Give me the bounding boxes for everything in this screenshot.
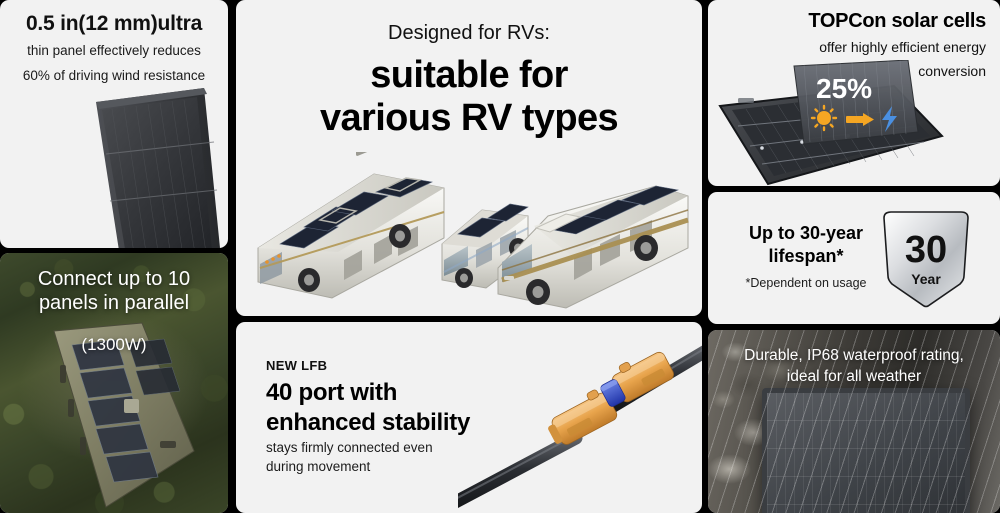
parallel-headline: Connect up to 10 panels in parallel — [0, 267, 228, 316]
panel-rv-types: Designed for RVs: suitable for various R… — [236, 0, 702, 316]
efficiency-callout: 25% — [788, 60, 938, 152]
panel-topcon: TOPCon solar cells offer highly efficien… — [708, 0, 1000, 186]
lfb-description-line1: stays firmly connected even — [266, 438, 433, 457]
panel-lfb-connector: NEW LFB 40 port with enhanced stability … — [236, 322, 702, 513]
rv-types-headline: suitable for various RV types — [236, 45, 702, 139]
rv-class-a — [258, 152, 444, 298]
panel-ip68: Durable, IP68 waterproof rating, ideal f… — [708, 330, 1000, 513]
lifespan-footnote: *Dependent on usage — [726, 276, 886, 290]
parallel-wattage: (1300W) — [0, 335, 228, 355]
rv-types-headline-line1: suitable for — [236, 54, 702, 97]
topcon-headline: TOPCon solar cells — [708, 0, 1000, 33]
badge-unit: Year — [911, 271, 941, 287]
lfb-headline: 40 port with enhanced stability — [266, 378, 470, 438]
lfb-eyebrow: NEW LFB — [266, 358, 327, 373]
lifespan-headline-line1: Up to 30-year — [726, 222, 886, 245]
sun-icon — [812, 106, 836, 130]
connector-female — [595, 345, 675, 411]
topcon-body-line1: offer highly efficient energy — [708, 33, 1000, 57]
ultra-thin-body-line1: thin panel effectively reduces — [0, 35, 228, 60]
panel-parallel-connection: Connect up to 10 panels in parallel (130… — [0, 253, 228, 513]
rv-types-headline-line2: various RV types — [236, 97, 702, 140]
lifespan-badge: 30 Year — [874, 206, 978, 310]
ip68-title: Durable, IP68 waterproof rating, ideal f… — [708, 346, 1000, 387]
solar-panel-icon — [36, 80, 221, 248]
badge-number: 30 — [905, 229, 947, 271]
ultra-thin-headline: 0.5 in(12 mm)ultra — [0, 0, 228, 35]
connector-illustration — [458, 322, 702, 513]
panel-ultra-thin: 0.5 in(12 mm)ultra thin panel effectivel… — [0, 0, 228, 248]
rv-types-kicker: Designed for RVs: — [236, 0, 702, 45]
lifespan-headline-line2: lifespan* — [726, 245, 886, 268]
lfb-description: stays firmly connected even during movem… — [266, 438, 433, 476]
parallel-headline-line1: Connect up to 10 — [0, 267, 228, 291]
parallel-headline-line2: panels in parallel — [0, 291, 228, 315]
solar-panel-wet — [762, 388, 970, 513]
lfb-headline-line2: enhanced stability — [266, 408, 470, 438]
rv-illustration-group — [236, 152, 702, 312]
ip68-title-line2: ideal for all weather — [720, 367, 988, 388]
lfb-description-line2: during movement — [266, 457, 433, 476]
feature-grid: 0.5 in(12 mm)ultra thin panel effectivel… — [0, 0, 1000, 513]
efficiency-value: 25% — [816, 73, 872, 104]
ip68-title-line1: Durable, IP68 waterproof rating, — [720, 346, 988, 367]
lfb-headline-line1: 40 port with — [266, 378, 470, 408]
lifespan-headline: Up to 30-year lifespan* — [726, 222, 886, 267]
panel-lifespan: Up to 30-year lifespan* *Dependent on us… — [708, 192, 1000, 324]
